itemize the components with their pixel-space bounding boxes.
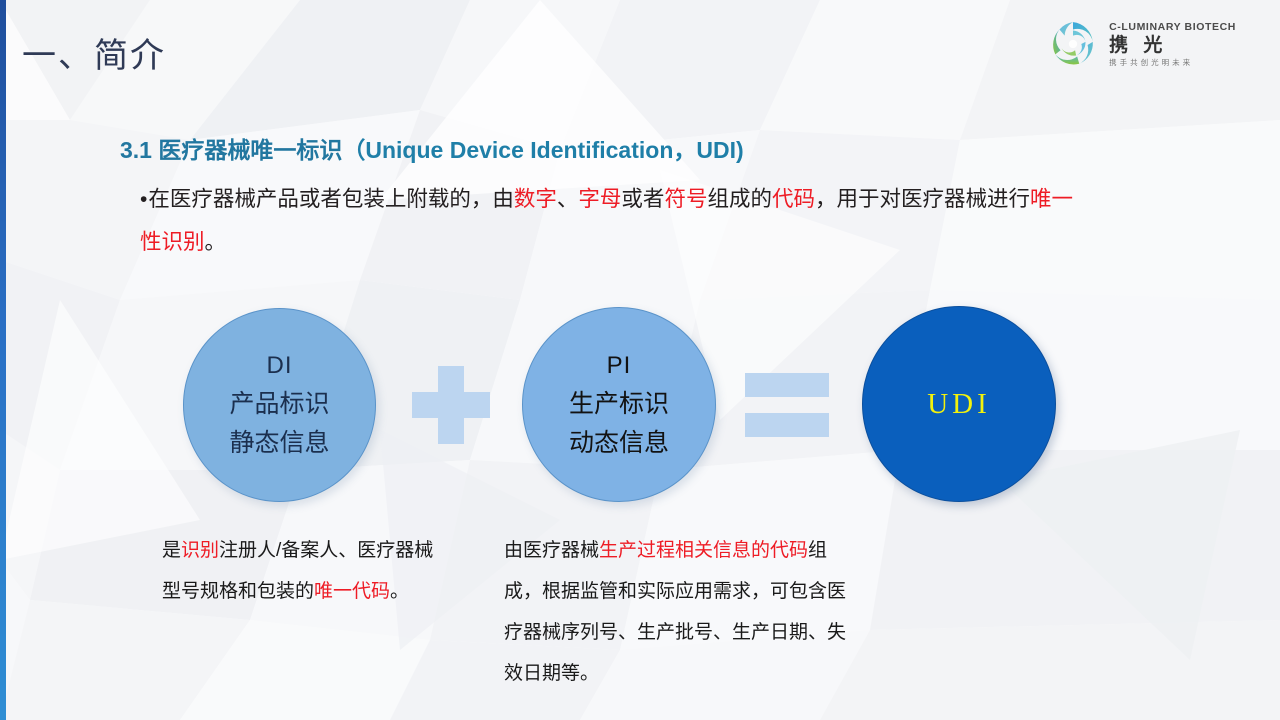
pi-line-3: 动态信息: [569, 431, 669, 456]
di-caption-highlight-unique-code: 唯一代码: [314, 581, 390, 602]
di-line-2: 产品标识: [229, 392, 329, 417]
pi-caption: 由医疗器械生产过程相关信息的代码组成，根据监管和实际应用需求，可包含医疗器械序列…: [504, 530, 854, 694]
page-title: 一、简介: [22, 28, 166, 77]
di-abbr: DI: [267, 354, 293, 378]
logo-text-block: C-Luminary Biotech 携 光 携手共创光明未来: [1109, 22, 1236, 66]
slide-canvas: 一、简介: [0, 0, 1280, 720]
plus-vertical-bar: [438, 366, 464, 444]
equals-bottom-bar: [745, 413, 829, 437]
di-caption: 是识别注册人/备案人、医疗器械型号规格和包装的唯一代码。: [162, 530, 452, 612]
di-caption-seg-3: 。: [390, 581, 409, 602]
pi-abbr: PI: [607, 354, 632, 378]
pi-circle[interactable]: PI 生产标识 动态信息: [522, 307, 716, 502]
pi-line-2: 生产标识: [569, 392, 669, 417]
body-seg-4: 组成的: [707, 187, 772, 211]
di-circle[interactable]: DI 产品标识 静态信息: [183, 308, 376, 502]
body-highlight-symbols: 符号: [664, 187, 707, 211]
udi-label: UDI: [927, 388, 991, 421]
pi-caption-seg-1: 由医疗器械: [504, 540, 599, 561]
body-seg-7: 。: [205, 230, 227, 254]
section-heading: 3.1 医疗器械唯一标识（Unique Device Identificatio…: [120, 131, 744, 165]
di-caption-highlight-identify: 识别: [181, 540, 219, 561]
di-line-3: 静态信息: [229, 431, 329, 456]
body-seg-2: 、: [557, 187, 579, 211]
body-seg-1: 在医疗器械产品或者包装上附载的，由: [148, 187, 514, 211]
equals-sign-icon: [745, 373, 829, 437]
body-highlight-digits: 数字: [514, 187, 557, 211]
body-paragraph: •在医疗器械产品或者包装上附载的，由数字、字母或者符号组成的代码，用于对医疗器械…: [140, 178, 1080, 263]
body-seg-3: 或者: [621, 187, 664, 211]
plus-sign-icon: [412, 366, 490, 444]
body-seg-5: ，用于对医疗器: [815, 187, 966, 211]
bullet-marker: •: [140, 188, 147, 211]
pi-caption-highlight-production-code: 生产过程相关信息的代码: [599, 540, 808, 561]
udi-circle[interactable]: UDI: [862, 306, 1056, 502]
logo-slogan: 携手共创光明未来: [1109, 59, 1193, 67]
section-heading-cn: 3.1 医疗器械唯一标识: [120, 137, 342, 163]
body-seg-6: 械进行: [966, 187, 1031, 211]
company-logo: C-Luminary Biotech 携 光 携手共创光明未来: [1047, 18, 1236, 70]
pi-caption-seg-2: 组成，根据监管和实际应用需求，可包含医疗器械序列号、生产批号、生产日期、失效日期…: [504, 540, 846, 684]
body-highlight-letters: 字母: [578, 187, 621, 211]
logo-english-name: C-Luminary Biotech: [1109, 22, 1236, 33]
di-caption-seg-1: 是: [162, 540, 181, 561]
body-highlight-code: 代码: [772, 187, 815, 211]
equals-top-bar: [745, 373, 829, 397]
section-heading-en: （Unique Device Identification，UDI): [342, 137, 743, 163]
logo-chinese-name: 携 光: [1109, 36, 1167, 55]
swirl-logo-icon: [1047, 18, 1099, 70]
left-accent-bar: [0, 0, 6, 720]
